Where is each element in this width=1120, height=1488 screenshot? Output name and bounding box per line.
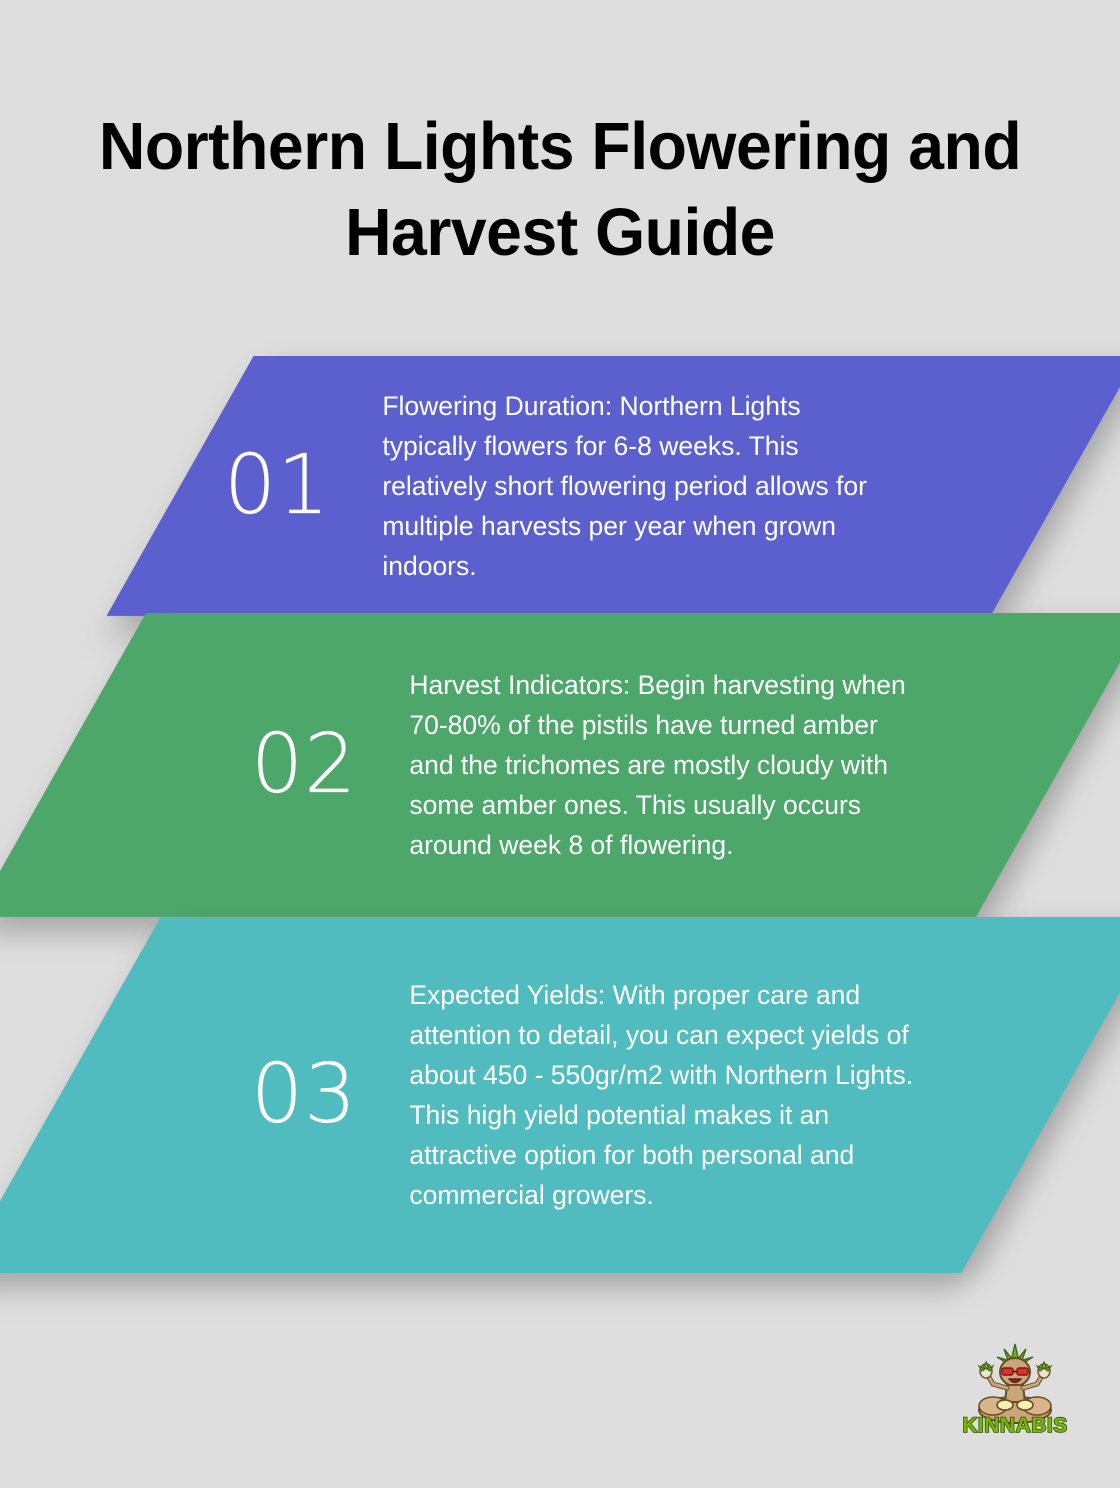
step-content-03: 03 Expected Yields: With proper care and… [60,917,1062,1273]
step-description-01: Flowering Duration: Northern Lights typi… [382,386,894,586]
step-description-03: Expected Yields: With proper care and at… [409,975,914,1215]
step-item-03: 03 Expected Yields: With proper care and… [60,917,1062,1273]
kinnabis-logo: KINNABIS KINNABIS [963,1340,1067,1440]
step-content-01: 01 Flowering Duration: Northern Lights t… [180,356,1064,616]
steps-list: 01 Flowering Duration: Northern Lights t… [0,0,1120,1488]
step-number-03: 03 [251,1054,357,1136]
step-item-02: 02 Harvest Indicators: Begin harvesting … [60,613,1062,917]
step-number-01: 01 [224,445,330,527]
step-description-02: Harvest Indicators: Begin harvesting whe… [409,665,921,865]
step-content-02: 02 Harvest Indicators: Begin harvesting … [60,613,1062,917]
cannabis-mascot-icon: KINNABIS [963,1340,1067,1440]
logo-wordmark: KINNABIS [963,1414,1067,1437]
infographic-page: Northern Lights Flowering and Harvest Gu… [0,0,1120,1488]
step-number-02: 02 [251,724,357,806]
step-item-01: 01 Flowering Duration: Northern Lights t… [180,356,1064,616]
